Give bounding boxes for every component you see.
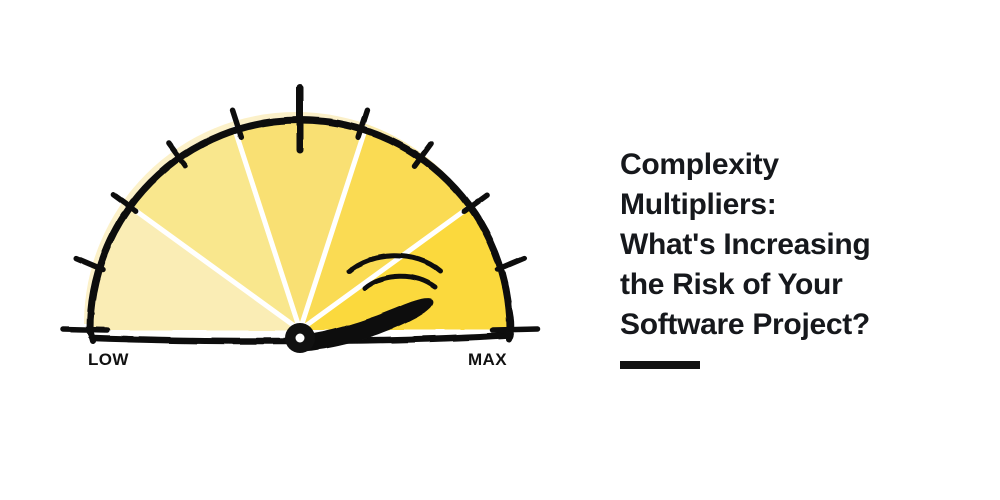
headline-line-4: the Risk of Your (620, 265, 970, 305)
gauge-tick (493, 329, 537, 330)
poster-canvas: LOW MAX Complexity Multipliers: What's I… (0, 0, 1000, 500)
gauge-tick (63, 329, 107, 330)
headline-line-1: Complexity (620, 145, 970, 185)
gauge-label-low: LOW (88, 351, 129, 368)
headline-line-5: Software Project? (620, 305, 970, 345)
gauge-label-max: MAX (468, 351, 507, 368)
needle-hub-dot (296, 334, 305, 343)
headline-underline-rule (620, 361, 700, 369)
page-title: Complexity Multipliers: What's Increasin… (620, 145, 970, 345)
headline-block: Complexity Multipliers: What's Increasin… (620, 145, 970, 369)
headline-line-2: Multipliers: (620, 185, 970, 225)
headline-line-3: What's Increasing (620, 225, 970, 265)
